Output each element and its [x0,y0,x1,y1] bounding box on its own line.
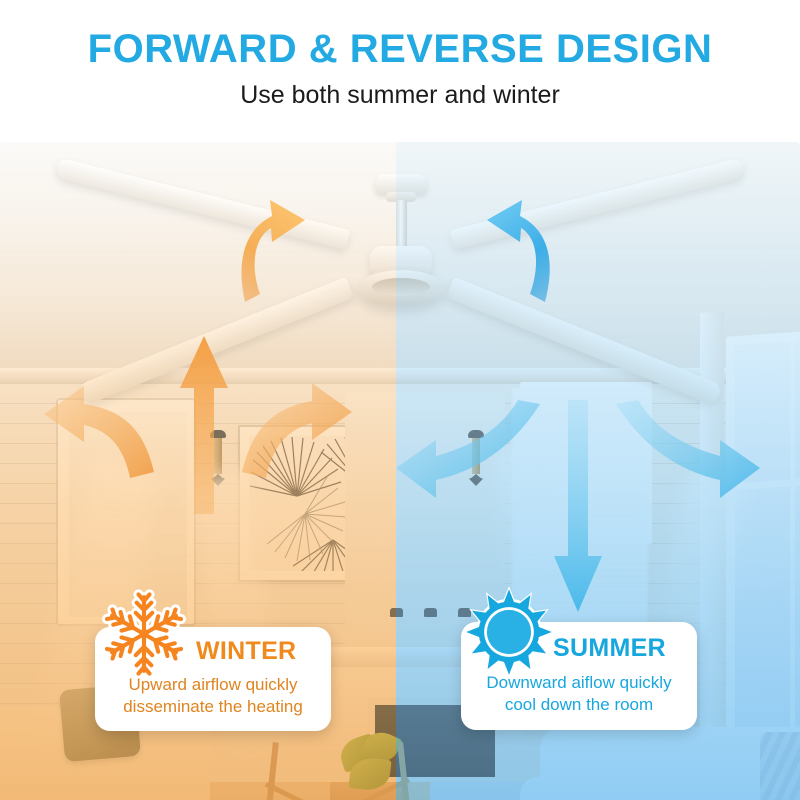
sconce-base [211,474,225,486]
infographic-page: FORWARD & REVERSE DESIGN Use both summer… [0,0,800,800]
snowflake-icon [98,588,190,680]
winter-label: WINTER [196,637,296,665]
sun-icon [463,586,555,678]
window-mullion-horizontal [65,407,187,412]
sconce-base [469,474,483,486]
fan-canopy [375,174,427,194]
table-leg [397,742,419,800]
sconce-stem [214,438,222,474]
side-table [255,742,425,800]
sconce-cap [210,430,226,438]
window-mullion-vertical [65,412,69,622]
sconce-stem [472,438,480,474]
summer-label: SUMMER [553,634,666,662]
wall-hook [390,608,403,617]
fan-blade [54,158,350,250]
summer-description-line2: cool down the room [461,694,697,716]
wall-sconce-right [468,430,484,488]
fan-downrod [396,200,407,250]
summer-description: Downward aiflow quickly cool down the ro… [461,672,697,716]
winter-description-line2: disseminate the heating [95,696,331,718]
fan-blade [77,277,354,406]
ceiling-fan [0,142,800,392]
window-mullion-vertical [790,341,795,771]
header-band: FORWARD & REVERSE DESIGN Use both summer… [0,0,800,142]
sofa-seat [520,777,800,800]
throw-blanket [760,732,800,800]
winter-description: Upward airflow quickly disseminate the h… [95,674,331,718]
fan-blade [450,158,746,250]
right-window [726,327,800,785]
sconce-cap [468,430,484,438]
page-title: FORWARD & REVERSE DESIGN [0,26,800,72]
page-subtitle: Use both summer and winter [0,80,800,110]
wall-hook [424,608,437,617]
fan-blade [446,277,723,406]
fan-hub-ring [372,278,430,296]
wall-sconce-left [210,430,226,488]
